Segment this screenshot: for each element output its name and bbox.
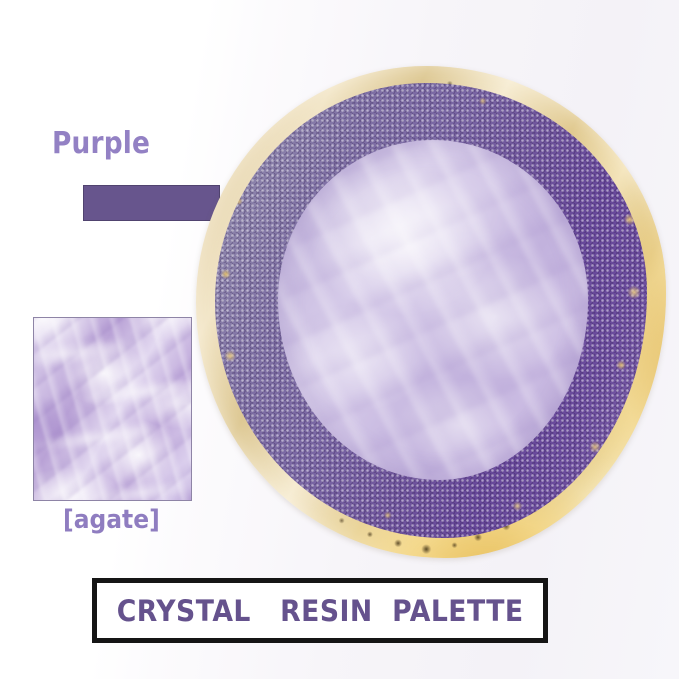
color-name-label: Purple <box>52 126 150 161</box>
agate-caption-label: [agate] <box>63 505 160 535</box>
product-image-canvas: Purple [agate] CRYSTAL RESIN PALETTE <box>0 0 679 679</box>
product-title-banner: CRYSTAL RESIN PALETTE <box>92 578 548 643</box>
agate-texture-swatch <box>33 317 192 501</box>
product-title-text: CRYSTAL RESIN PALETTE <box>117 594 524 628</box>
marble-wisp-layer <box>33 317 192 501</box>
palette-photo <box>196 66 666 558</box>
